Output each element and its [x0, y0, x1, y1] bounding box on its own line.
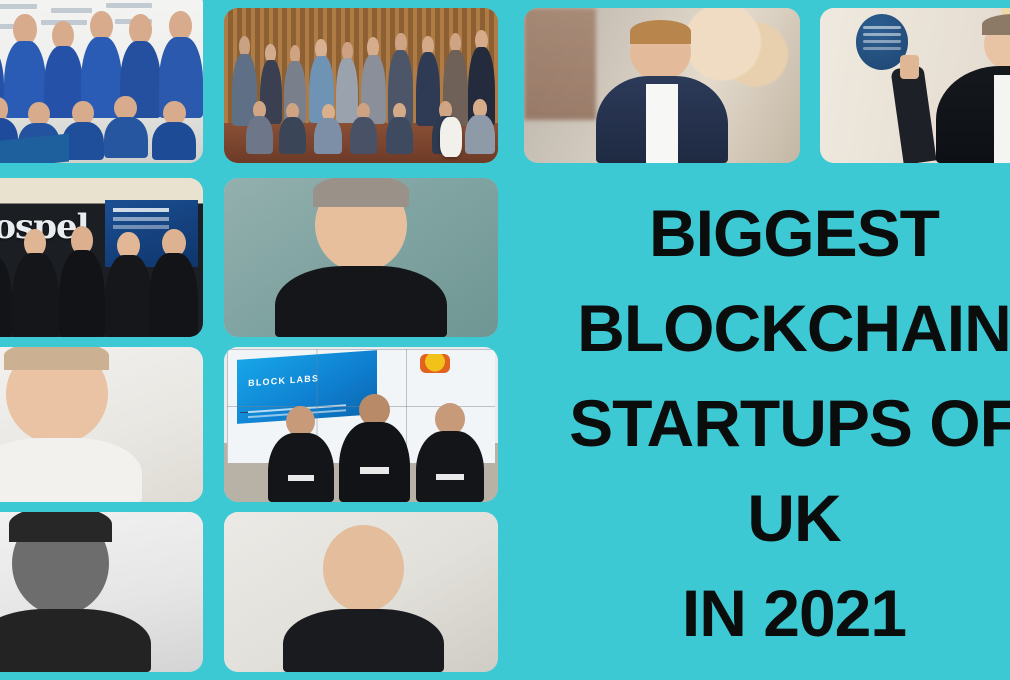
headline-line-1: BIGGEST	[524, 186, 1010, 281]
photo-man-navy-suit	[524, 8, 800, 163]
photo-headshot-teal-backdrop	[224, 178, 498, 337]
poster-headline: BIGGEST BLOCKCHAIN STARTUPS OF UK IN 202…	[524, 186, 1010, 661]
photo-gospel-booth-team: Gospel	[0, 178, 203, 337]
photo-blond-man-white-shirt	[0, 347, 203, 502]
photo-bw-man-talking	[0, 512, 203, 672]
headline-line-2: BLOCKCHAIN	[524, 281, 1010, 376]
photo-team-wood-room	[224, 8, 498, 163]
headline-line-5: IN 2021	[524, 566, 1010, 661]
photo-team-blue-shirts	[0, 0, 203, 163]
photo-man-pointing-plaque	[820, 8, 1010, 163]
photo-block-labs-presentation: BLOCK LABS —	[224, 347, 498, 502]
photo-bald-man-interview	[224, 512, 498, 672]
poster: Gospel	[0, 0, 1010, 680]
headline-line-3: STARTUPS OF	[524, 376, 1010, 471]
headline-line-4: UK	[524, 471, 1010, 566]
